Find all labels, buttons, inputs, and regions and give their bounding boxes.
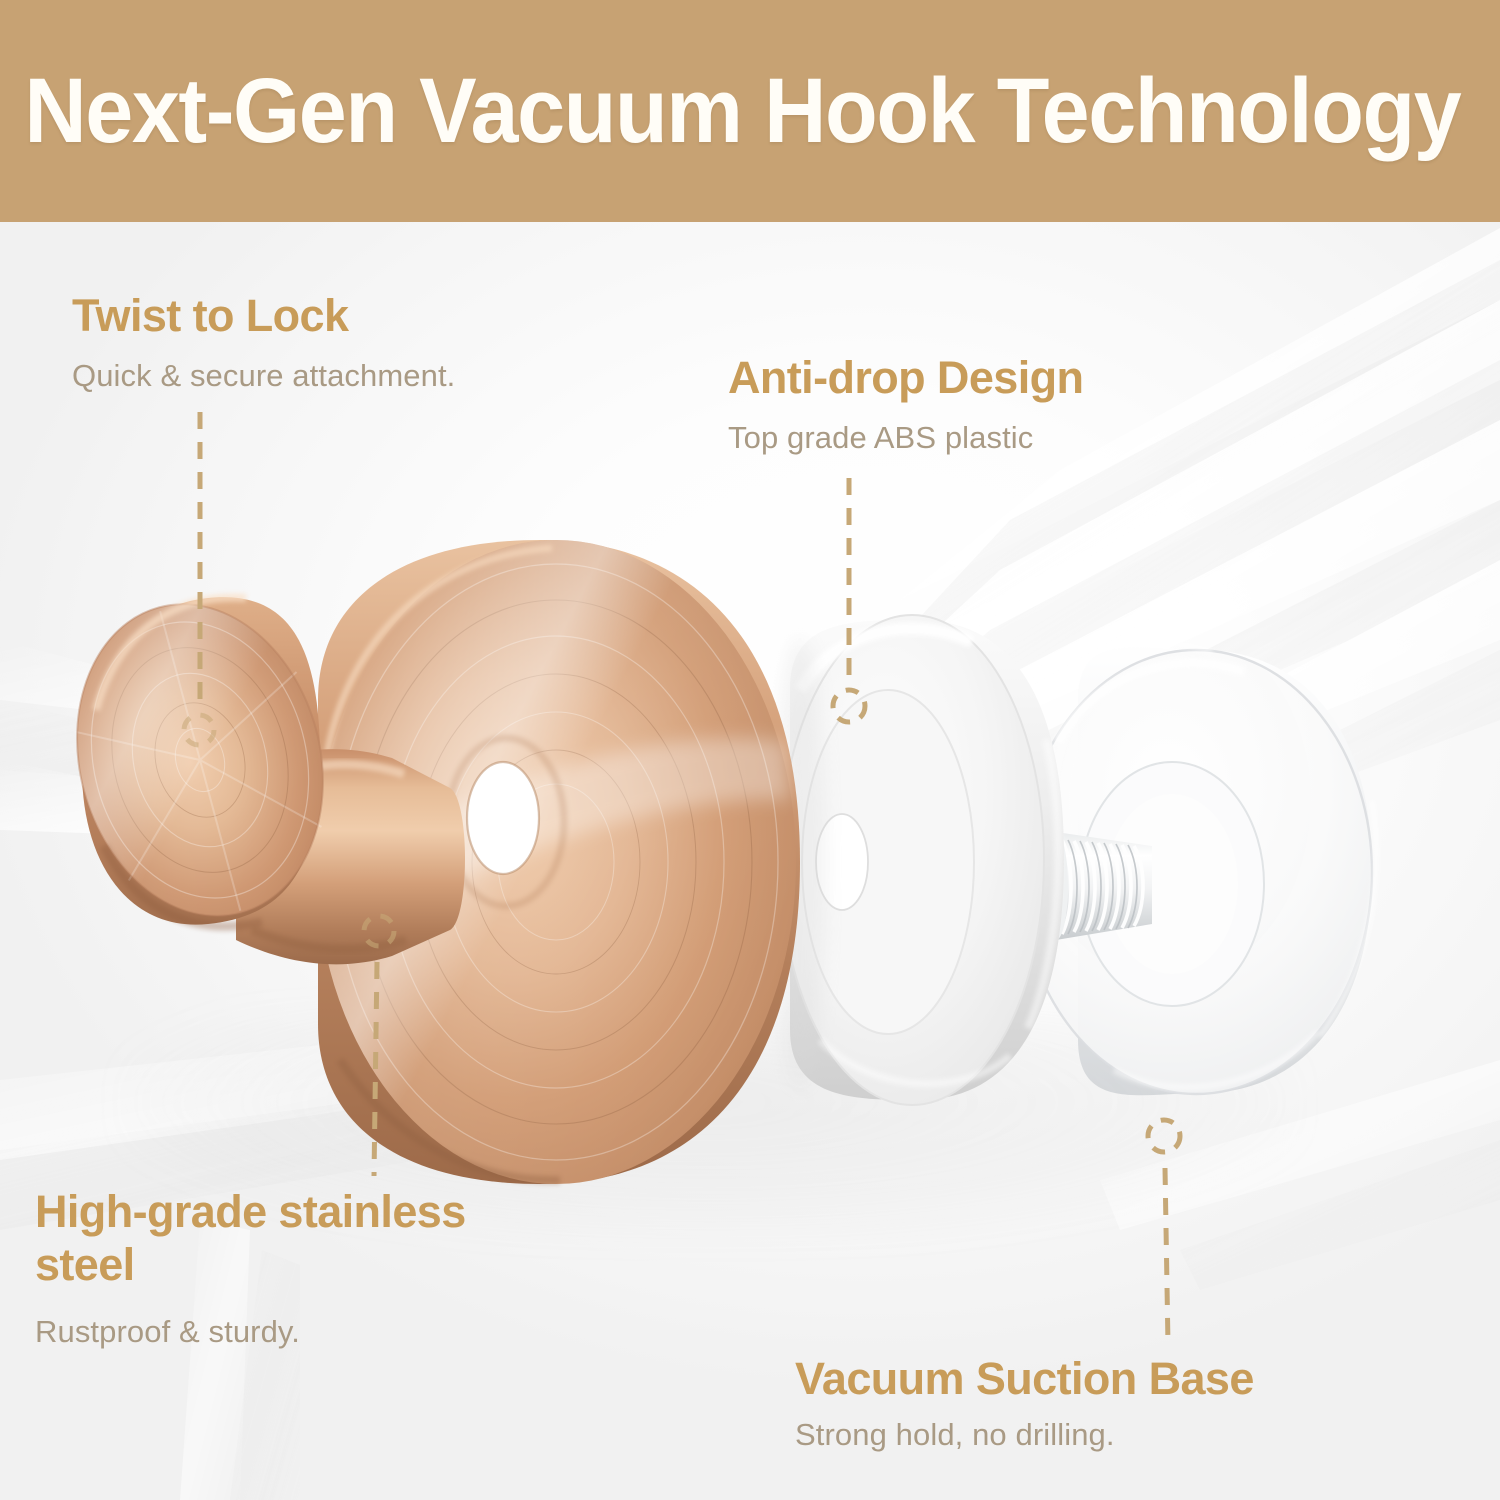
- callout-title: Twist to Lock: [72, 290, 592, 343]
- callout-title: Vacuum Suction Base: [795, 1353, 1395, 1406]
- callout-anti-drop-design: Anti-drop Design Top grade ABS plastic: [728, 352, 1248, 457]
- abs-plastic-disc: [774, 615, 1064, 1105]
- callout-twist-to-lock: Twist to Lock Quick & secure attachment.: [72, 290, 592, 395]
- callout-subtitle: Rustproof & sturdy.: [35, 1313, 595, 1352]
- callout-vacuum-suction-base: Vacuum Suction Base Strong hold, no dril…: [795, 1353, 1395, 1454]
- callout-subtitle: Quick & secure attachment.: [72, 357, 592, 396]
- product-infographic: Next-Gen Vacuum Hook Technology: [0, 0, 1500, 1500]
- callout-subtitle: Top grade ABS plastic: [728, 419, 1248, 458]
- callout-title: Anti-drop Design: [728, 352, 1248, 405]
- callout-subtitle: Strong hold, no drilling.: [795, 1416, 1395, 1455]
- callout-title: High-grade stainless steel: [35, 1186, 595, 1291]
- callout-high-grade-stainless-steel: High-grade stainless steel Rustproof & s…: [35, 1186, 595, 1352]
